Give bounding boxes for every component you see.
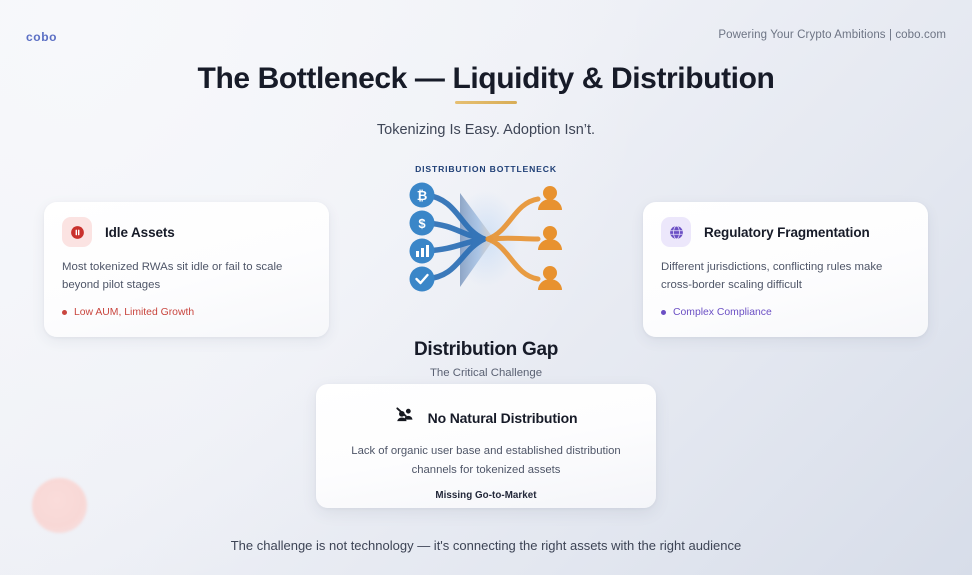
- card-header: Regulatory Fragmentation: [643, 202, 928, 247]
- source-node-bar-chart: [410, 239, 435, 264]
- svg-text:$: $: [418, 216, 426, 231]
- header-tagline: Powering Your Crypto Ambitions | cobo.co…: [718, 29, 946, 41]
- title-underline-accent: [455, 101, 517, 104]
- section-title-distribution-gap: Distribution Gap: [0, 339, 972, 361]
- bullet-dot-icon: [661, 310, 666, 315]
- card-header: Idle Assets: [44, 202, 329, 247]
- card-tag: Low AUM, Limited Growth: [44, 295, 329, 318]
- illustration-label: DISTRIBUTION BOTTLENECK: [398, 164, 574, 174]
- card-footnote: Missing Go-to-Market: [316, 480, 656, 501]
- users-slash-icon: [395, 405, 416, 430]
- card-tag-label: Complex Compliance: [673, 307, 772, 318]
- svg-text:₿: ₿: [417, 189, 428, 204]
- globe-icon: [661, 217, 691, 247]
- source-node-dollar: $: [410, 211, 435, 236]
- card-tag: Complex Compliance: [643, 295, 928, 318]
- card-title: Regulatory Fragmentation: [704, 225, 870, 240]
- page-title: The Bottleneck — Liquidity & Distributio…: [0, 62, 972, 96]
- distribution-bottleneck-illustration: DISTRIBUTION BOTTLENECK: [398, 164, 574, 309]
- bullet-dot-icon: [62, 310, 67, 315]
- card-tag-label: Low AUM, Limited Growth: [74, 307, 194, 318]
- page-subtitle: Tokenizing Is Easy. Adoption Isn’t.: [0, 122, 972, 138]
- source-node-bitcoin: ₿: [410, 183, 435, 208]
- source-node-check: [410, 267, 435, 292]
- card-description: Lack of organic user base and establishe…: [316, 430, 656, 480]
- bottleneck-diagram: ₿ $: [398, 177, 574, 305]
- card-idle-assets[interactable]: Idle Assets Most tokenized RWAs sit idle…: [44, 202, 329, 337]
- card-description: Different jurisdictions, conflicting rul…: [643, 247, 928, 295]
- section-subtitle: The Critical Challenge: [0, 367, 972, 379]
- card-no-natural-distribution[interactable]: No Natural Distribution Lack of organic …: [316, 384, 656, 508]
- pause-circle-icon: [62, 217, 92, 247]
- target-people: [538, 186, 562, 290]
- decorative-blush-circle: [32, 478, 87, 533]
- card-regulatory-fragmentation[interactable]: Regulatory Fragmentation Different juris…: [643, 202, 928, 337]
- footer-statement: The challenge is not technology — it's c…: [0, 538, 972, 553]
- card-title: Idle Assets: [105, 225, 175, 240]
- card-title: No Natural Distribution: [428, 410, 578, 426]
- card-header: No Natural Distribution: [316, 384, 656, 430]
- cobo-logo: cobo: [26, 30, 57, 44]
- card-description: Most tokenized RWAs sit idle or fail to …: [44, 247, 329, 295]
